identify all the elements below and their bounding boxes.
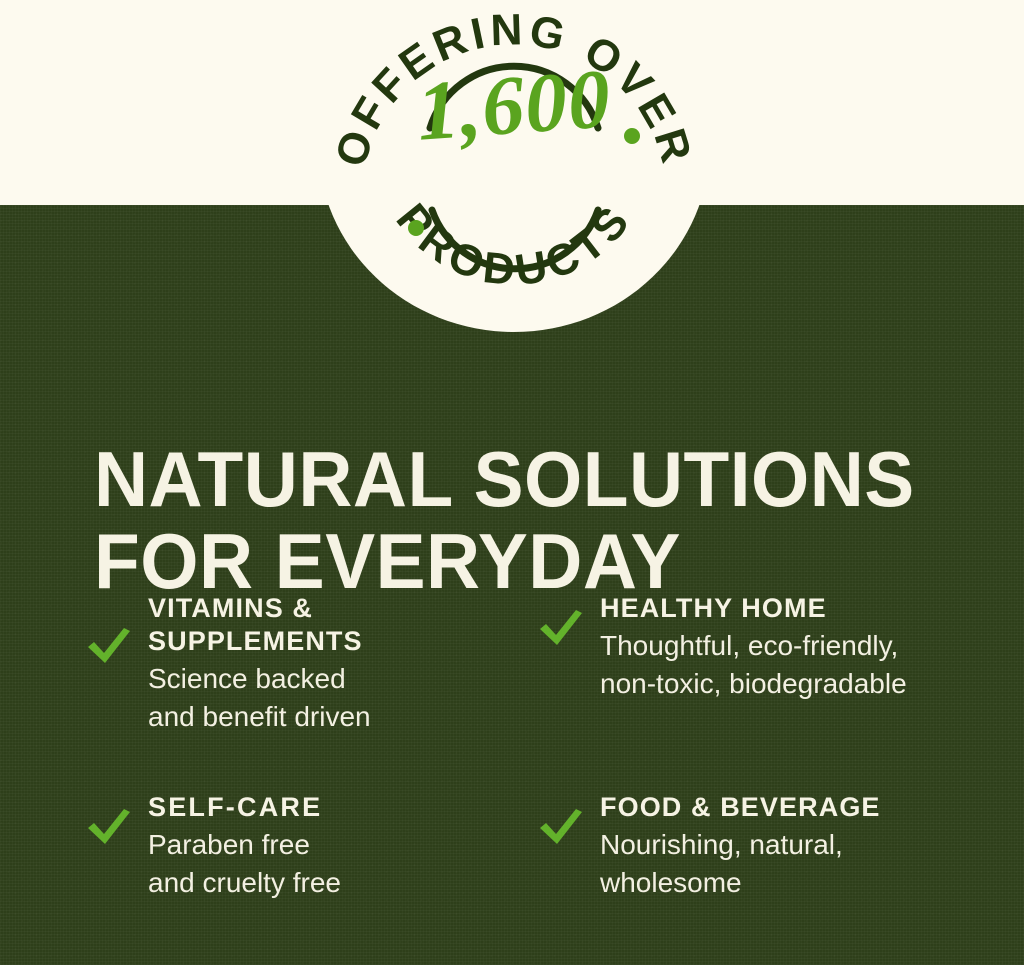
feature-list: VITAMINS & SUPPLEMENTS Science backed an… bbox=[86, 592, 986, 902]
check-wrapper bbox=[86, 592, 148, 666]
feature-title: HEALTHY HOME bbox=[600, 592, 986, 625]
feature-title-line-1: SELF-CARE bbox=[148, 792, 322, 822]
feature-title: VITAMINS & SUPPLEMENTS bbox=[148, 592, 538, 658]
badge-left-dot-icon bbox=[408, 220, 424, 236]
feature-desc-line-2: and benefit driven bbox=[148, 698, 538, 736]
feature-title-line-1: HEALTHY HOME bbox=[600, 593, 827, 623]
check-wrapper bbox=[538, 592, 600, 648]
feature-item-food-beverage: FOOD & BEVERAGE Nourishing, natural, who… bbox=[538, 791, 986, 902]
feature-title-line-2: SUPPLEMENTS bbox=[148, 626, 363, 656]
feature-item-self-care: SELF-CARE Paraben free and cruelty free bbox=[86, 791, 538, 902]
feature-desc-line-1: Science backed bbox=[148, 660, 538, 698]
feature-title-line-1: VITAMINS & bbox=[148, 593, 313, 623]
check-icon bbox=[86, 626, 132, 666]
badge-graphics: OFFERING OVER PRODUCTS bbox=[318, 0, 710, 332]
feature-description: Paraben free and cruelty free bbox=[148, 826, 538, 902]
feature-text: SELF-CARE Paraben free and cruelty free bbox=[148, 791, 538, 902]
feature-title: FOOD & BEVERAGE bbox=[600, 791, 986, 824]
feature-text: FOOD & BEVERAGE Nourishing, natural, who… bbox=[600, 791, 986, 902]
feature-description: Thoughtful, eco-friendly, non-toxic, bio… bbox=[600, 627, 986, 703]
offering-badge: OFFERING OVER PRODUCTS 1,600 bbox=[318, 0, 710, 332]
feature-title-line-1: FOOD & BEVERAGE bbox=[600, 792, 881, 822]
feature-text: VITAMINS & SUPPLEMENTS Science backed an… bbox=[148, 592, 538, 736]
feature-item-vitamins-supplements: VITAMINS & SUPPLEMENTS Science backed an… bbox=[86, 592, 538, 736]
feature-description: Science backed and benefit driven bbox=[148, 660, 538, 736]
check-wrapper bbox=[538, 791, 600, 847]
feature-desc-line-1: Nourishing, natural, bbox=[600, 826, 986, 864]
check-wrapper bbox=[86, 791, 148, 847]
feature-desc-line-1: Paraben free bbox=[148, 826, 538, 864]
feature-item-healthy-home: HEALTHY HOME Thoughtful, eco-friendly, n… bbox=[538, 592, 986, 736]
feature-desc-line-2: wholesome bbox=[600, 864, 986, 902]
headline-line-1: NATURAL SOLUTIONS bbox=[94, 438, 939, 520]
promo-poster: OFFERING OVER PRODUCTS 1,600 NATURAL SOL… bbox=[0, 0, 1024, 965]
check-icon bbox=[538, 608, 584, 648]
feature-text: HEALTHY HOME Thoughtful, eco-friendly, n… bbox=[600, 592, 986, 703]
feature-description: Nourishing, natural, wholesome bbox=[600, 826, 986, 902]
check-icon bbox=[86, 807, 132, 847]
check-icon bbox=[538, 807, 584, 847]
feature-desc-line-2: and cruelty free bbox=[148, 864, 538, 902]
feature-desc-line-1: Thoughtful, eco-friendly, bbox=[600, 627, 986, 665]
feature-desc-line-2: non-toxic, biodegradable bbox=[600, 665, 986, 703]
page-title: NATURAL SOLUTIONS FOR EVERYDAY bbox=[94, 438, 939, 602]
headline-line-2: FOR EVERYDAY bbox=[94, 520, 939, 602]
badge-bottom-arc-text: PRODUCTS bbox=[387, 195, 642, 296]
feature-title: SELF-CARE bbox=[148, 791, 538, 824]
